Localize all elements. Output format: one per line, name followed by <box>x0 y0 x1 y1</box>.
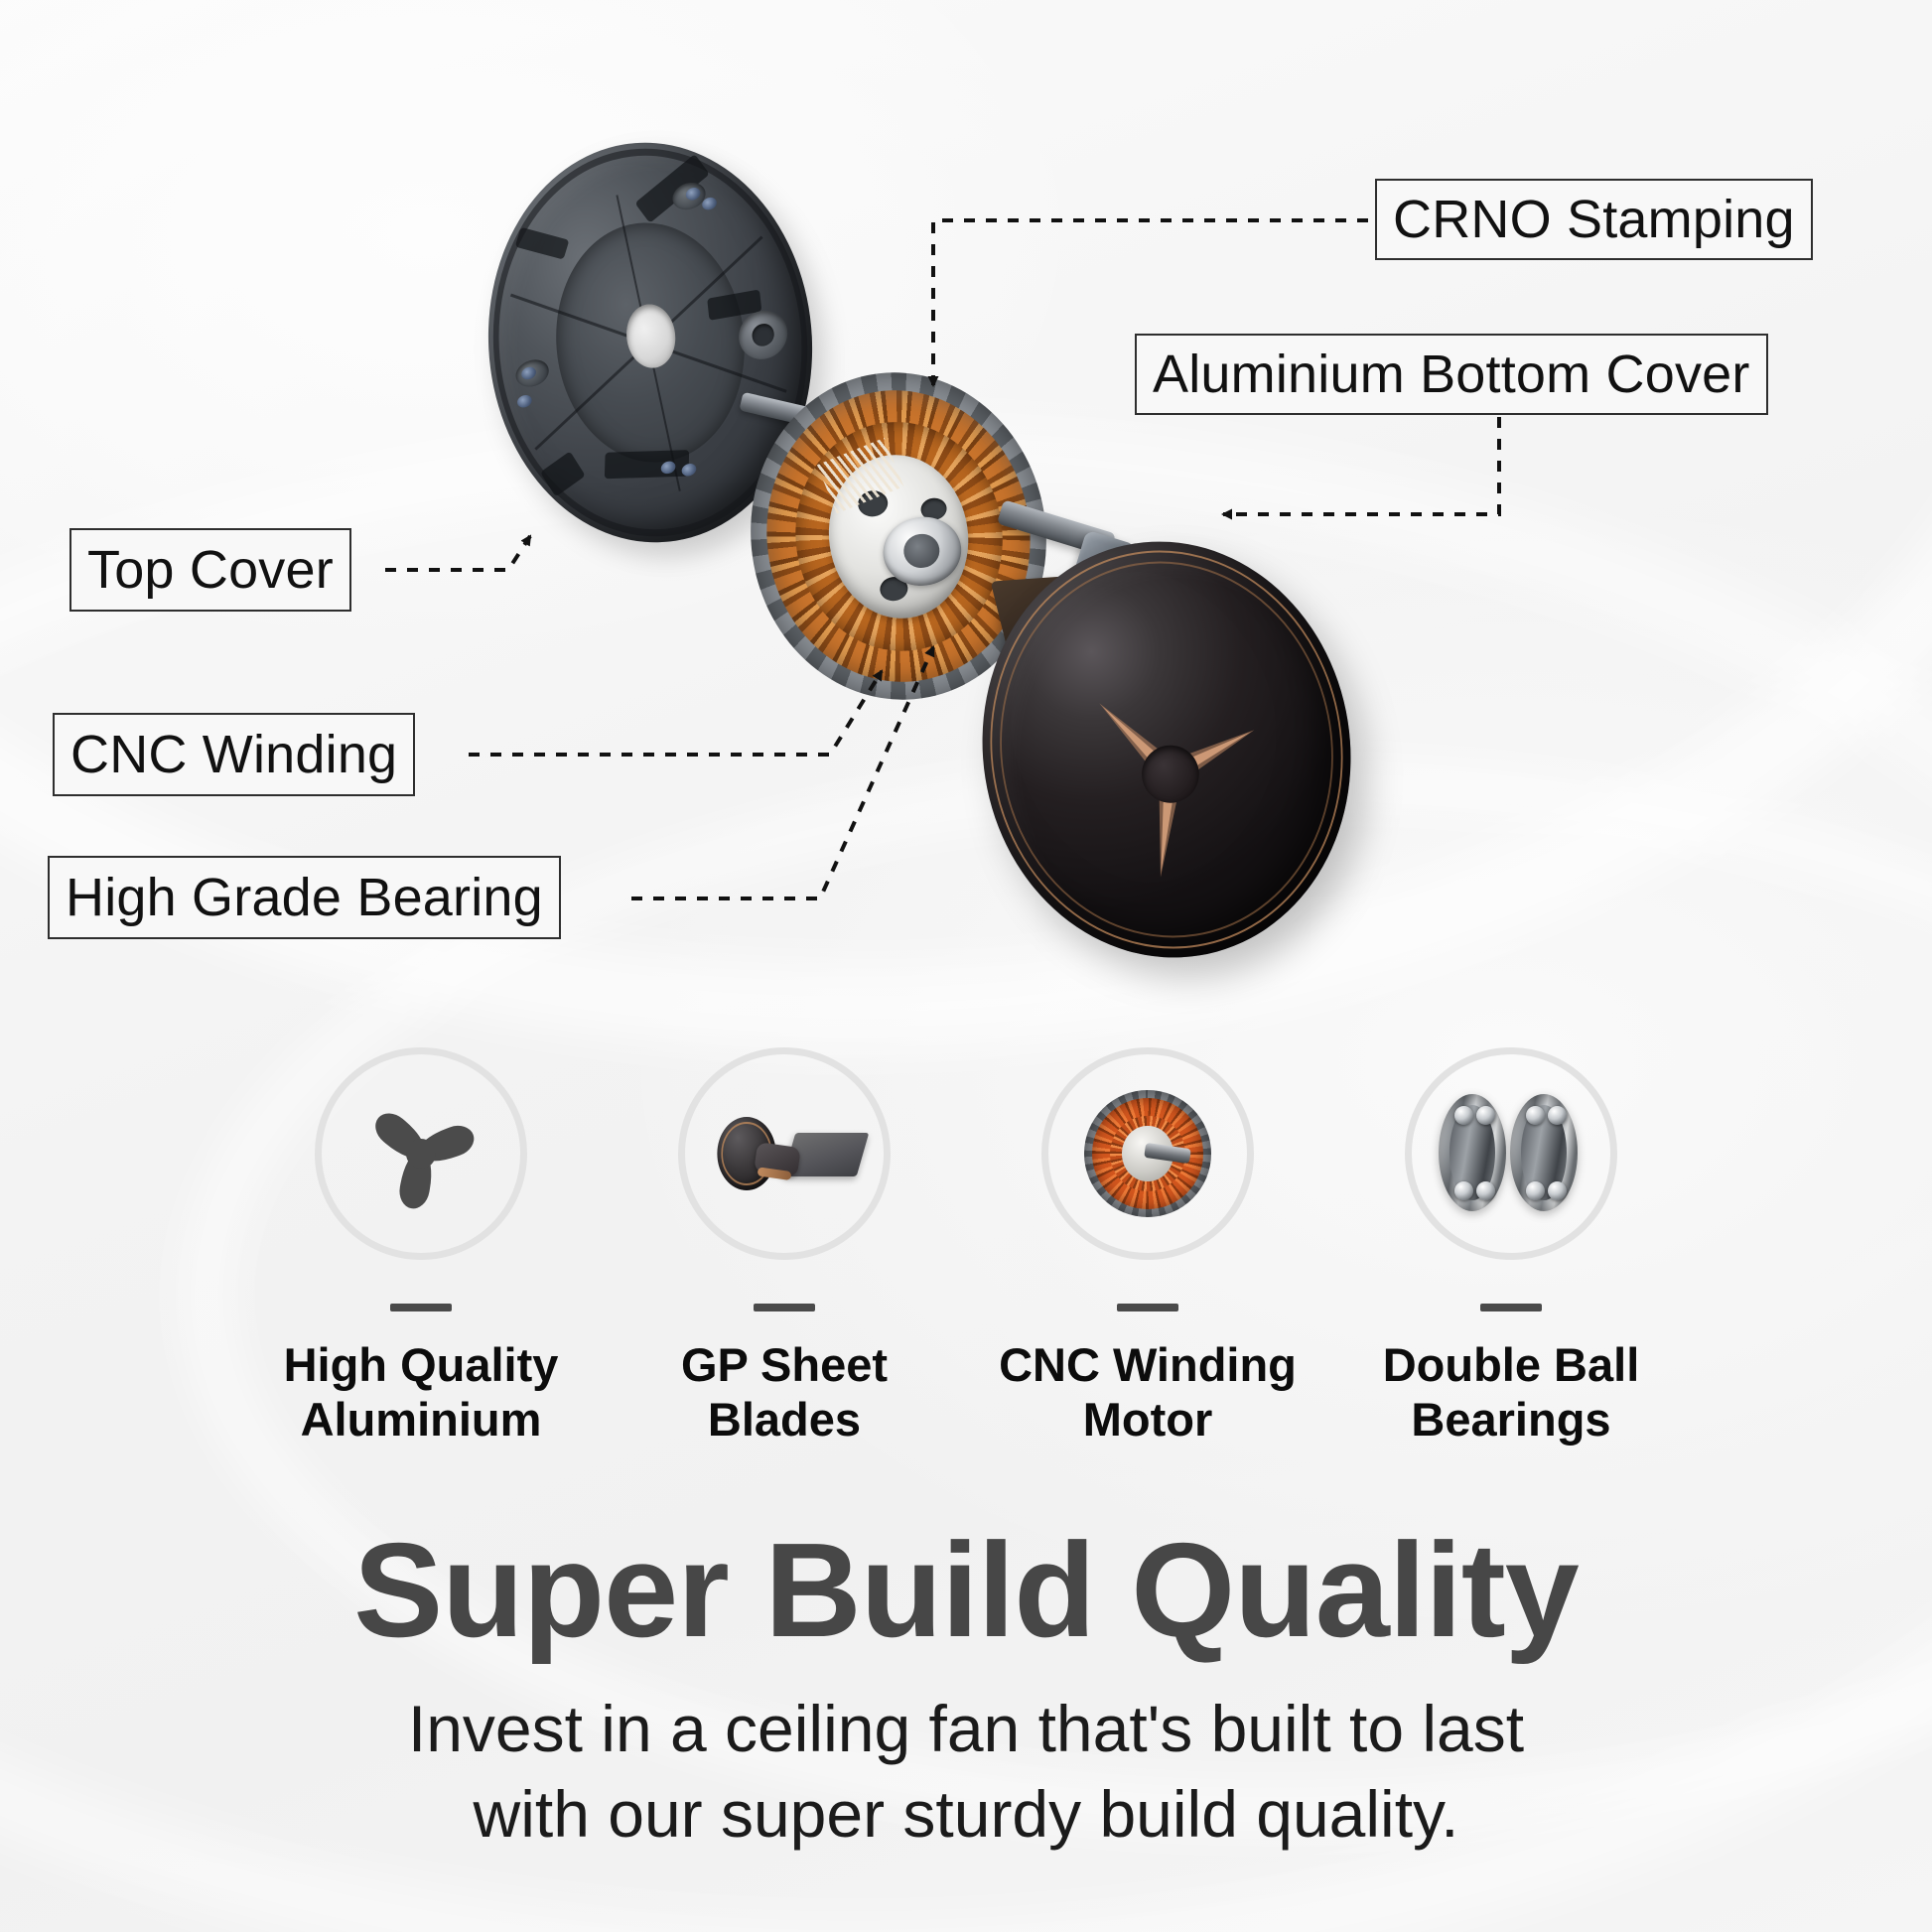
stator-motor-icon <box>1084 1090 1211 1217</box>
callout-crno-stamping: CRNO Stamping <box>1375 179 1813 260</box>
feature-icon-frame <box>315 1047 527 1260</box>
feature-label-line2: Blades <box>681 1392 888 1447</box>
feature-label-line2: Aluminium <box>284 1392 559 1447</box>
feature-divider <box>1480 1304 1542 1311</box>
feature-icon-frame <box>1405 1047 1617 1260</box>
feature-label-line1: Double Ball <box>1383 1337 1640 1392</box>
callout-cnc-winding: CNC Winding <box>53 713 415 796</box>
callout-label-text: CNC Winding <box>70 724 397 785</box>
feature-label-line2: Motor <box>999 1392 1297 1447</box>
callout-high-grade-bearing: High Grade Bearing <box>48 856 561 939</box>
fan-blade-cap-icon <box>710 1099 859 1208</box>
fan-blade-icon <box>362 1095 480 1212</box>
infographic-canvas: CRNO Stamping Aluminium Bottom Cover Top… <box>0 0 1932 1932</box>
feature-label-line1: GP Sheet <box>681 1337 888 1392</box>
feature-label-line1: CNC Winding <box>999 1337 1297 1392</box>
feature-double-ball-bearings: Double Ball Bearings <box>1362 1047 1660 1448</box>
subtitle-line-1: Invest in a ceiling fan that's built to … <box>0 1687 1932 1772</box>
callout-label-text: CRNO Stamping <box>1393 189 1795 250</box>
feature-gp-sheet-blades: GP Sheet Blades <box>635 1047 933 1448</box>
subtitle-line-2: with our super sturdy build quality. <box>0 1772 1932 1858</box>
page-subtitle: Invest in a ceiling fan that's built to … <box>0 1687 1932 1858</box>
feature-label-line2: Bearings <box>1383 1392 1640 1447</box>
feature-label: CNC Winding Motor <box>999 1337 1297 1448</box>
exploded-motor-illustration: CRNO Stamping Aluminium Bottom Cover Top… <box>0 0 1932 1052</box>
callout-label-text: High Grade Bearing <box>66 867 543 928</box>
callout-label-text: Top Cover <box>87 539 334 601</box>
feature-cnc-winding-motor: CNC Winding Motor <box>999 1047 1297 1448</box>
callout-top-cover: Top Cover <box>69 528 351 612</box>
feature-divider <box>1117 1304 1178 1311</box>
headline-block: Super Build Quality Invest in a ceiling … <box>0 1519 1932 1858</box>
feature-label: High Quality Aluminium <box>284 1337 559 1448</box>
feature-icon-frame <box>678 1047 891 1260</box>
feature-label: GP Sheet Blades <box>681 1337 888 1448</box>
feature-divider <box>390 1304 452 1311</box>
feature-high-quality-aluminium: High Quality Aluminium <box>272 1047 570 1448</box>
feature-highlights-row: High Quality Aluminium GP Sheet Blades <box>0 1047 1932 1464</box>
feature-icon-frame <box>1041 1047 1254 1260</box>
page-title: Super Build Quality <box>0 1519 1932 1661</box>
feature-divider <box>754 1304 815 1311</box>
ball-bearing-icon <box>1437 1090 1586 1217</box>
feature-label-line1: High Quality <box>284 1337 559 1392</box>
callout-aluminium-bottom-cover: Aluminium Bottom Cover <box>1135 334 1768 415</box>
callout-label-text: Aluminium Bottom Cover <box>1153 344 1750 405</box>
feature-label: Double Ball Bearings <box>1383 1337 1640 1448</box>
